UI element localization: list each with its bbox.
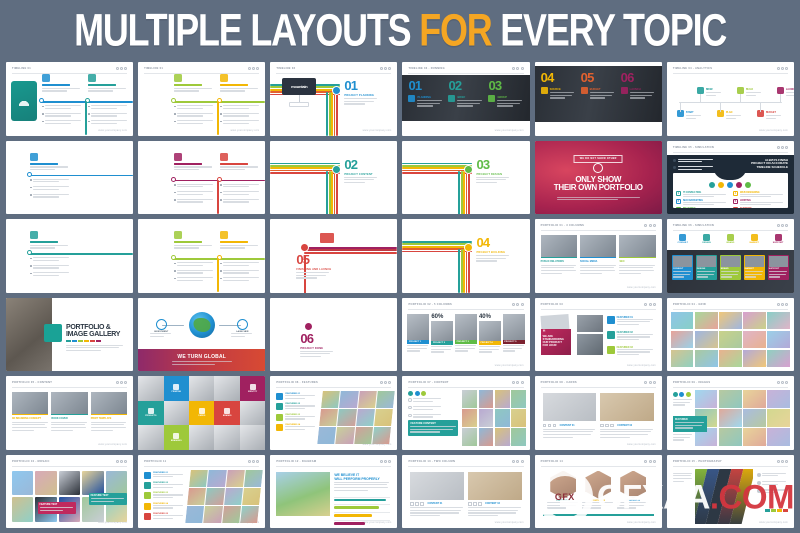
slide-thumbnail[interactable]: PORTFOLIO 14www.yourcompany.comCONTENT 0… [535, 455, 662, 529]
mosaic-photo[interactable] [695, 312, 718, 330]
window-controls[interactable] [777, 224, 788, 227]
slide-thumbnail[interactable]: PORTFOLIO 01 - 3 COLUMNSwww.yourcompany.… [535, 219, 662, 293]
slide-thumbnail[interactable]: 02PROJECT CONTENT [270, 141, 397, 215]
dot-icon [248, 67, 251, 70]
text-line [678, 166, 714, 167]
dot-icon [120, 381, 123, 384]
mosaic-photo[interactable] [719, 428, 742, 446]
collage-photo[interactable] [372, 427, 391, 444]
stat-card[interactable]: PROJECT 3 [455, 314, 477, 354]
collage-photo[interactable] [336, 427, 355, 444]
text-line [177, 272, 203, 273]
collage-photo[interactable] [226, 470, 245, 487]
window-controls[interactable] [512, 67, 523, 70]
portfolio-card[interactable]: CONTENT 02 [600, 393, 654, 439]
text-line [580, 267, 613, 268]
mosaic-photo[interactable] [695, 390, 718, 408]
text-line [231, 333, 252, 334]
window-controls[interactable] [777, 67, 788, 70]
mosaic-photo[interactable] [767, 390, 790, 408]
mosaic-photo[interactable] [719, 390, 742, 408]
collage-photo[interactable] [189, 470, 208, 487]
text-line [762, 492, 778, 493]
node-icon [777, 87, 784, 94]
mosaic-photo[interactable] [767, 312, 790, 330]
mosaic-photo[interactable] [12, 471, 33, 496]
headline-band: WE TURN GLOBAL [138, 349, 265, 371]
collage-photo[interactable] [511, 409, 526, 427]
stat-card[interactable]: 40%PROJECT 4 [479, 314, 501, 355]
slide-header: TIMELINE 02 [276, 67, 391, 74]
slide-header-label: PORTFOLIO 10 - MOSAIC [12, 460, 127, 463]
node-icon [737, 87, 744, 94]
window-controls[interactable] [380, 460, 391, 463]
bar-row [334, 497, 390, 502]
window-controls[interactable] [777, 303, 788, 306]
mosaic-photo[interactable] [106, 471, 127, 496]
tab-card[interactable]: SUPPORT [768, 255, 789, 280]
text-line [223, 115, 249, 116]
mosaic-photo[interactable] [695, 331, 718, 349]
collage-photo[interactable] [244, 470, 263, 487]
timeline-item-title [88, 84, 116, 86]
mosaic-photo[interactable] [743, 350, 766, 368]
card-label: PROJECT 4 [479, 341, 501, 345]
timeline-column [220, 231, 260, 250]
portfolio-card[interactable]: CONTENT 01 [543, 393, 597, 439]
mosaic-photo[interactable] [719, 312, 742, 330]
mosaic-photo[interactable] [59, 471, 80, 496]
dot-icon [120, 460, 123, 463]
badge-icon [686, 392, 691, 397]
text-line [33, 275, 59, 276]
feature-icon [276, 393, 283, 400]
window-controls[interactable] [777, 146, 788, 149]
social-icon[interactable] [600, 424, 604, 428]
tab-item[interactable]: CONSULT [673, 234, 693, 244]
collage-photo[interactable] [462, 409, 477, 427]
feature-icon [144, 482, 151, 489]
tile-item[interactable]: PRODUCTS [138, 401, 163, 426]
collage-photo[interactable] [318, 427, 337, 444]
process-item-number: 2 [676, 199, 681, 204]
collage-photo[interactable] [495, 428, 510, 446]
tile-photo[interactable] [240, 401, 265, 426]
timeline-drop-rail [217, 101, 219, 135]
badge-icon [421, 391, 426, 396]
slide-thumbnail[interactable]: PORTFOLIO 05 - CONTENTwww.yourcompany.co… [6, 376, 133, 450]
mosaic-photo[interactable] [82, 471, 103, 496]
tile-photo[interactable] [164, 401, 189, 426]
mosaic-photo[interactable] [671, 312, 694, 330]
mosaic-photo[interactable] [743, 312, 766, 330]
text-line [223, 280, 249, 281]
collage-photo[interactable] [206, 488, 225, 505]
text-line [541, 267, 574, 268]
mosaic-photo[interactable] [35, 471, 56, 496]
portfolio-card[interactable]: 3D BRANDING CONCEPT [12, 392, 48, 432]
collage-photo[interactable] [204, 506, 223, 523]
tile-item[interactable]: BRANDS [214, 401, 239, 426]
gallery-icon [44, 324, 62, 342]
text-line [673, 475, 691, 476]
dot-icon [777, 146, 780, 149]
tile-item[interactable]: PRINTING [164, 376, 189, 401]
slide-thumbnail[interactable]: WE DO NOT SHOW OTHERWE DO NOT SHOW OTHER… [535, 141, 662, 215]
step-description [630, 92, 656, 100]
tab-card[interactable]: BRAND [720, 255, 741, 280]
collage-photo[interactable] [358, 391, 377, 408]
portfolio-card[interactable]: PUBLIC RELATIONS [541, 235, 577, 275]
text-line [174, 166, 212, 167]
collage-photo[interactable] [462, 428, 477, 446]
portfolio-card[interactable]: PRINT TEMPLATE [91, 392, 127, 432]
card-label: 3D BRANDING CONCEPT [12, 417, 48, 420]
dot-icon [785, 146, 788, 149]
node-label: LAUNCH [786, 88, 794, 91]
collage-photo[interactable] [376, 391, 395, 408]
photo-stack: “WE ARESTANDARDIZINGOUR PRODUCTFOR HOUR [541, 315, 575, 355]
text-line [766, 115, 781, 116]
step-label: LAUNCH [630, 88, 641, 91]
portfolio-card[interactable]: CONTENT 02 [468, 472, 522, 518]
text-line [673, 399, 692, 400]
check-icon [408, 414, 412, 418]
social-icon[interactable] [478, 502, 482, 506]
collage-photo[interactable] [495, 390, 510, 408]
bullet-item [174, 277, 214, 282]
slide-thumbnail[interactable]: TIMELINE 03 - RUNNINGwww.yourcompany.com… [402, 62, 529, 136]
text-line [479, 349, 499, 350]
text-line [617, 334, 653, 335]
slide-thumbnail[interactable]: PORTFOLIO 15 - PHOTOGRAPHYwww.yourcompan… [667, 455, 794, 529]
collage-photo[interactable] [374, 409, 393, 426]
text-line [617, 324, 639, 325]
collage-photo[interactable] [511, 428, 526, 446]
text-line [91, 498, 125, 499]
text-line [177, 113, 212, 114]
social-icon[interactable] [548, 424, 552, 428]
dot-icon [649, 224, 652, 227]
slide-thumbnail[interactable] [6, 219, 133, 293]
slide-thumbnail[interactable] [6, 141, 133, 215]
mosaic-photo[interactable] [719, 409, 742, 427]
tab-card[interactable]: DESIGN [696, 255, 717, 280]
slide-thumbnail[interactable]: PORTFOLIO 12 - DIAGRAMwww.yourcompany.co… [270, 455, 397, 529]
slide-thumbnail[interactable]: INVESTMENTLAUNCHERWE TURN GLOBAL [138, 298, 265, 372]
step-number: 01 [408, 80, 421, 92]
text-line [177, 265, 203, 266]
slide-thumbnail[interactable] [138, 141, 265, 215]
collage-photo[interactable] [185, 506, 204, 523]
team-member[interactable]: CONTENT 03 [617, 471, 649, 511]
collage-photo[interactable] [511, 390, 526, 408]
text-line [223, 262, 258, 263]
text-line [547, 502, 578, 503]
tab-icon [775, 234, 782, 241]
slide-header-label: TIMELINE 01 [144, 67, 259, 70]
slide-grid: TIMELINE 01www.yourcompany.com TIMELINE … [0, 62, 800, 533]
portfolio-card[interactable]: CONTENT 01 [410, 472, 464, 518]
slide-thumbnail[interactable]: PORTFOLIO 02 - 5 COLUMNSwww.yourcompany.… [402, 298, 529, 372]
dot-icon [653, 460, 656, 463]
text-line [600, 429, 653, 430]
collage-photo[interactable] [462, 390, 477, 408]
window-controls[interactable] [380, 67, 391, 70]
slide-header-label: PORTFOLIO 03 [541, 303, 656, 306]
mosaic-photo[interactable] [671, 350, 694, 368]
slide-header-label: PORTFOLIO 15 - PHOTOGRAPHY [673, 460, 788, 463]
portfolio-card[interactable]: BOOK COVER [51, 392, 87, 432]
mosaic-photo[interactable] [671, 331, 694, 349]
text-line [177, 108, 203, 109]
mosaic-photo[interactable] [743, 428, 766, 446]
collage-photo[interactable] [224, 488, 243, 505]
mosaic-photo[interactable] [743, 409, 766, 427]
tile-label: BRANDS [223, 415, 232, 417]
text-line [45, 113, 80, 114]
tab-item[interactable]: MARKET [744, 234, 764, 244]
slide-thumbnail[interactable]: PORTFOLIO 03www.yourcompany.com“WE AREST… [535, 298, 662, 372]
mosaic-photo[interactable] [719, 350, 742, 368]
window-controls[interactable] [512, 303, 523, 306]
step-number: 05 [296, 254, 309, 266]
node-label: BRIEF [706, 88, 713, 91]
feature-icon [757, 473, 761, 477]
collage-photo[interactable] [187, 488, 206, 505]
mosaic-photo[interactable] [12, 497, 33, 522]
slide-thumbnail[interactable]: TIMELINE 06 - SIMULATIONwww.yourcompany.… [667, 219, 794, 293]
text-line [33, 179, 68, 180]
step-description [344, 98, 378, 106]
slide-thumbnail[interactable]: PORTFOLIO 10 - MOSAICwww.yourcompany.com… [6, 455, 133, 529]
slide-thumbnail[interactable]: TIMELINE 04 - ANALYTICSwww.yourcompany.c… [667, 62, 794, 136]
social-icon[interactable] [410, 502, 414, 506]
text-line [153, 484, 183, 485]
stat-card[interactable]: 60%PROJECT 2 [431, 314, 453, 355]
text-line [33, 260, 59, 261]
portfolio-card[interactable]: SOCIAL MEDIA [580, 235, 616, 275]
mosaic-photo[interactable] [767, 409, 790, 427]
team-member[interactable]: CONTENT 01 [547, 471, 579, 511]
mosaic-photo[interactable] [767, 350, 790, 368]
hero-title-line2: THEIR OWN PORTFOLIO [535, 184, 662, 192]
tile-photo[interactable] [138, 425, 163, 450]
stat-card[interactable]: PROJECT 5 [503, 314, 525, 354]
window-controls[interactable] [777, 460, 788, 463]
window-controls[interactable] [777, 381, 788, 384]
person-photo [577, 334, 603, 355]
collage-photo[interactable] [222, 506, 241, 523]
text-line [51, 422, 87, 423]
bullet-item [30, 186, 70, 191]
slide-thumbnail[interactable]: 04PROJECT BUILDING [402, 219, 529, 293]
page-title-part1: MULTIPLE LAYOUTS [74, 5, 419, 55]
text-line [550, 97, 566, 98]
social-icon[interactable] [468, 502, 472, 506]
social-icon[interactable] [420, 502, 424, 506]
collage-photo[interactable] [495, 409, 510, 427]
tab-row: CONSULTDESIGNBRANDMARKETSUPPORT [671, 234, 790, 244]
device-mockup: mountain [282, 78, 316, 95]
slide-thumbnail[interactable] [138, 219, 265, 293]
slide-thumbnail[interactable]: TIMELINE 02www.yourcompany.commountain01… [270, 62, 397, 136]
window-controls[interactable] [644, 303, 655, 306]
tile-photo[interactable] [240, 425, 265, 450]
window-controls[interactable] [116, 381, 127, 384]
tab-item[interactable]: SUPPORT [768, 234, 788, 244]
stat-card[interactable]: PROJECT 1 [407, 314, 429, 354]
cover-title: PORTFOLIO &IMAGE GALLERY [66, 324, 126, 339]
step-number: 03 [488, 80, 501, 92]
mosaic-photo[interactable] [767, 428, 790, 446]
tile-item[interactable]: CARDS [189, 401, 214, 426]
slide-thumbnail[interactable]: 05FINISHING AND LAUNCH [270, 219, 397, 293]
window-controls[interactable] [644, 460, 655, 463]
slide-thumbnail[interactable]: TIMELINE 01www.yourcompany.com [138, 62, 265, 136]
collage-photo[interactable] [354, 427, 373, 444]
portfolio-card[interactable]: SEO [619, 235, 655, 275]
tab-card[interactable]: MARKET [744, 255, 765, 280]
mosaic-photo[interactable] [719, 331, 742, 349]
social-icon[interactable] [553, 424, 557, 428]
step-description [497, 100, 523, 108]
collage-photo[interactable] [340, 391, 359, 408]
card-row: CONSULTDESIGNBRANDMARKETSUPPORT [672, 255, 789, 280]
window-controls[interactable] [380, 381, 391, 384]
window-controls[interactable] [512, 381, 523, 384]
text-line [153, 505, 183, 506]
tile-icon [224, 408, 230, 414]
collage-photo[interactable] [240, 506, 259, 523]
feature-item: FEATURED 03 [276, 414, 316, 421]
slide-thumbnail[interactable]: PORTFOLIO 06 - FEATURESwww.yourcompany.c… [270, 376, 397, 450]
step-label: PROJECT CONTENT [344, 173, 380, 176]
dot-icon [521, 381, 524, 384]
tile-photo[interactable] [189, 376, 214, 401]
timeline-node-icon [27, 172, 32, 177]
collage-photo[interactable] [242, 488, 261, 505]
collage-photo[interactable] [356, 409, 375, 426]
card-row: CONTENT 01CONTENT 02 [410, 472, 521, 518]
tab-item[interactable]: BRAND [720, 234, 740, 244]
text-line [91, 430, 113, 431]
collage-photo[interactable] [479, 428, 494, 446]
text-line [617, 349, 653, 350]
window-controls[interactable] [248, 67, 259, 70]
slide-header: PORTFOLIO 15 - PHOTOGRAPHY [673, 460, 788, 467]
slide-thumbnail[interactable]: PORTFOLIO 04 - GRIDwww.yourcompany.com [667, 298, 794, 372]
text-line [177, 277, 212, 278]
text-line [91, 422, 127, 423]
text-line [223, 108, 249, 109]
tab-item[interactable]: DESIGN [697, 234, 717, 244]
timeline-drop-rail [85, 101, 87, 135]
tile-item[interactable]: IDENTITY [240, 376, 265, 401]
slide-thumbnail[interactable]: 03PROJECT DESIGN [402, 141, 529, 215]
dot-icon [521, 67, 524, 70]
timeline-item-title [220, 241, 248, 243]
badge-icons [673, 392, 691, 397]
text-line [413, 398, 441, 399]
social-icon[interactable] [605, 424, 609, 428]
cover-text [66, 345, 124, 353]
slide-thumbnail[interactable]: PORTFOLIO 11www.yourcompany.comFEATURED … [138, 455, 265, 529]
text-line [174, 88, 212, 89]
node-icon [727, 182, 733, 188]
timeline-column [30, 153, 70, 172]
slide-thumbnail[interactable]: PORTFOLIO 13 - TWO COLUMNwww.yourcompany… [402, 455, 529, 529]
mosaic-photo[interactable] [767, 331, 790, 349]
window-controls[interactable] [248, 460, 259, 463]
card-label: SEO [619, 260, 655, 263]
tab-card[interactable]: CONSULT [672, 255, 693, 280]
dot-icon [649, 460, 652, 463]
tile-photo[interactable] [214, 425, 239, 450]
bullet-item [88, 105, 128, 110]
slide-thumbnail[interactable]: PORTFOLIO 08 - CARDSwww.yourcompany.comC… [535, 376, 662, 450]
slide-thumbnail[interactable]: TIMELINE 05 - SIMULATIONwww.yourcompany.… [667, 141, 794, 215]
mosaic-photo[interactable] [743, 331, 766, 349]
team-member[interactable]: CONTENT 02 [582, 471, 614, 511]
text-line [285, 408, 305, 409]
tile-photo[interactable] [189, 425, 214, 450]
slide-thumbnail[interactable]: 04SOURCE05BUDGET06LAUNCH [535, 62, 662, 136]
slide-thumbnail[interactable]: TIMELINE 01www.yourcompany.com [6, 62, 133, 136]
step-number: 04 [476, 237, 489, 249]
step-icon [448, 95, 455, 102]
slide-thumbnail[interactable]: 06PROJECT DONE [270, 298, 397, 372]
bullet-item [174, 120, 214, 125]
slide-thumbnail[interactable]: PORTFOLIO 07 - CONTENTwww.yourcompany.co… [402, 376, 529, 450]
text-line [45, 105, 80, 106]
window-controls[interactable] [116, 67, 127, 70]
collage-photo[interactable] [338, 409, 357, 426]
social-icon[interactable] [610, 424, 614, 428]
dot-icon [781, 381, 784, 384]
text-line [410, 429, 452, 430]
collage-photo[interactable] [319, 409, 338, 426]
window-controls[interactable] [116, 460, 127, 463]
collage-photo[interactable] [321, 391, 340, 408]
slide-thumbnail[interactable]: PORTFOLIO &IMAGE GALLERY [6, 298, 133, 372]
social-icon[interactable] [415, 502, 419, 506]
social-icon[interactable] [543, 424, 547, 428]
dot-icon [116, 67, 119, 70]
tile-photo[interactable] [214, 376, 239, 401]
mosaic-photo[interactable] [743, 390, 766, 408]
collage-photo[interactable] [479, 390, 494, 408]
text-line [334, 484, 387, 485]
color-swatches [765, 509, 788, 512]
collage-photo[interactable] [479, 409, 494, 427]
tab-label: CONSULT [673, 242, 693, 244]
tile-photo[interactable] [138, 376, 163, 401]
text-line [497, 105, 513, 106]
node-description [706, 92, 722, 97]
slide-thumbnail[interactable]: PRINTINGIDENTITYPRODUCTSCARDSBRANDSBRAND… [138, 376, 265, 450]
step-node-icon [304, 322, 313, 331]
collage-photo[interactable] [207, 470, 226, 487]
mosaic-photo[interactable] [695, 350, 718, 368]
window-controls[interactable] [644, 224, 655, 227]
social-icon[interactable] [473, 502, 477, 506]
tile-grid: PRINTINGIDENTITYPRODUCTSCARDSBRANDSBRAND… [138, 376, 265, 450]
window-controls[interactable] [644, 381, 655, 384]
slide-thumbnail[interactable]: PORTFOLIO 09 - IMAGESwww.yourcompany.com… [667, 376, 794, 450]
window-controls[interactable] [512, 460, 523, 463]
tile-item[interactable]: BRANDING [164, 425, 189, 450]
